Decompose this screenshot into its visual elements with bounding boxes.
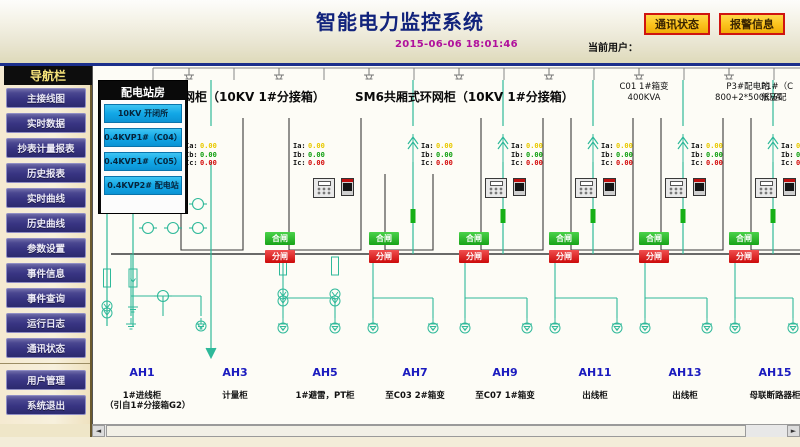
sidebar-item-system-exit[interactable]: 系统退出 <box>6 395 86 415</box>
application-window: 智能电力监控系统 2015-06-06 18:01:46 当前用户： 通讯状态 … <box>0 0 800 447</box>
bay-label-ah11: AH11 出线柜 <box>558 366 632 401</box>
close-breaker-button[interactable]: 合闸 <box>549 232 579 245</box>
bay-label-ah9: AH9 至C07 1#箱变 <box>468 366 542 401</box>
breaker-control-5: 合闸 分闸 <box>639 232 669 263</box>
sidebar-item-realtime-curve[interactable]: 实时曲线 <box>6 188 86 208</box>
measurement-block-6: Ia:0.00 Ib:0.00 Ic:0.00 <box>691 142 723 168</box>
measurement-block-5: Ia:0.00 Ib:0.00 Ic:0.00 <box>601 142 633 168</box>
close-breaker-button[interactable]: 合闸 <box>265 232 295 245</box>
horizontal-scrollbar[interactable]: ◄ ► <box>92 424 800 437</box>
sidebar-item-comm-status[interactable]: 通讯状态 <box>6 338 86 358</box>
footer-strip <box>0 437 800 447</box>
sidebar-item-run-log[interactable]: 运行日志 <box>6 313 86 333</box>
breaker-control-1: 合闸 分闸 <box>265 232 295 263</box>
sidebar-item-realtime-data[interactable]: 实时数据 <box>6 113 86 133</box>
protection-relay-icon[interactable] <box>755 178 777 198</box>
popup-item-04kv-p2-station[interactable]: 0.4KVP2# 配电站 <box>104 176 182 195</box>
energy-meter-icon[interactable] <box>513 178 526 196</box>
breaker-control-3: 合闸 分闸 <box>459 232 489 263</box>
protection-relay-icon[interactable] <box>485 178 507 198</box>
sidebar-item-event-info[interactable]: 事件信息 <box>6 263 86 283</box>
app-header: 智能电力监控系统 2015-06-06 18:01:46 当前用户： 通讯状态 … <box>0 0 800 66</box>
bay-label-ah15: AH15 母联断路器柜 <box>738 366 800 401</box>
popup-item-10kv-switch-station[interactable]: 10KV 开闭所 <box>104 104 182 123</box>
sidebar-item-parameters[interactable]: 参数设置 <box>6 238 86 258</box>
system-timestamp: 2015-06-06 18:01:46 <box>395 39 518 50</box>
sidebar-item-history-report[interactable]: 历史报表 <box>6 163 86 183</box>
measurement-block-3: Ia:0.00 Ib:0.00 Ic:0.00 <box>421 142 453 168</box>
transformer-note-c01: C01 1#箱变 400KVA <box>599 82 689 104</box>
sidebar-divider <box>0 363 90 365</box>
open-breaker-button[interactable]: 分闸 <box>549 250 579 263</box>
sidebar-item-main-diagram[interactable]: 主接线图 <box>6 88 86 108</box>
sidebar-nav-list: 主接线图 实时数据 抄表计量报表 历史报表 实时曲线 历史曲线 参数设置 事件信… <box>6 88 86 420</box>
substation-selector-popup: 配电站房 10KV 开闭所 0.4KVP1#（C04） 0.4KVP1#（C05… <box>98 80 188 214</box>
energy-meter-icon[interactable] <box>693 178 706 196</box>
sidebar-item-history-curve[interactable]: 历史曲线 <box>6 213 86 233</box>
energy-meter-icon[interactable] <box>341 178 354 196</box>
close-breaker-button[interactable]: 合闸 <box>369 232 399 245</box>
open-breaker-button[interactable]: 分闸 <box>265 250 295 263</box>
bay-label-ah7: AH7 至C03 2#箱变 <box>378 366 452 401</box>
open-breaker-button[interactable]: 分闸 <box>459 250 489 263</box>
protection-relay-icon[interactable] <box>313 178 335 198</box>
measurement-block-7: Ia:0.00 Ib:0.00 Ic:0.00 <box>781 142 800 168</box>
bay-label-ah13: AH13 出线柜 <box>648 366 722 401</box>
transformer-note-p1: P1#（C 低压配 <box>761 82 800 104</box>
popup-body: 10KV 开闭所 0.4KVP1#（C04） 0.4KVP1#（C05） 0.4… <box>101 100 185 213</box>
sidebar-item-user-admin[interactable]: 用户管理 <box>6 370 86 390</box>
main-diagram-panel: 环网柜（10KV 1#分接箱） SM6共厢式环网柜（10KV 1#分接箱） C0… <box>92 66 800 447</box>
scroll-left-arrow-icon[interactable]: ◄ <box>92 425 105 437</box>
open-breaker-button[interactable]: 分闸 <box>369 250 399 263</box>
protection-relay-icon[interactable] <box>665 178 687 198</box>
protection-relay-icon[interactable] <box>575 178 597 198</box>
section-title-1: 环网柜（10KV 1#分接箱） <box>171 88 325 105</box>
popup-title: 配电站房 <box>101 83 185 100</box>
measurement-block-1: Ia:0.00 Ib:0.00 Ic:0.00 <box>185 142 217 168</box>
current-user-label: 当前用户： <box>588 39 638 54</box>
open-breaker-button[interactable]: 分闸 <box>729 250 759 263</box>
energy-meter-icon[interactable] <box>603 178 616 196</box>
popup-item-04kv-p1-c04[interactable]: 0.4KVP1#（C04） <box>104 128 182 147</box>
single-line-diagram: 环网柜（10KV 1#分接箱） SM6共厢式环网柜（10KV 1#分接箱） C0… <box>93 66 800 424</box>
popup-item-04kv-p1-c05[interactable]: 0.4KVP1#（C05） <box>104 152 182 171</box>
breaker-control-4: 合闸 分闸 <box>549 232 579 263</box>
alarm-info-button[interactable]: 报警信息 <box>719 13 785 35</box>
navigation-sidebar: 导航栏 主接线图 实时数据 抄表计量报表 历史报表 实时曲线 历史曲线 参数设置… <box>0 66 92 447</box>
energy-meter-icon[interactable] <box>783 178 796 196</box>
sidebar-title: 导航栏 <box>4 66 92 85</box>
scroll-right-arrow-icon[interactable]: ► <box>787 425 800 437</box>
section-title-2: SM6共厢式环网柜（10KV 1#分接箱） <box>355 88 574 105</box>
sidebar-item-meter-report[interactable]: 抄表计量报表 <box>6 138 86 158</box>
close-breaker-button[interactable]: 合闸 <box>639 232 669 245</box>
close-breaker-button[interactable]: 合闸 <box>729 232 759 245</box>
scrollbar-thumb[interactable] <box>106 425 746 437</box>
measurement-block-4: Ia:0.00 Ib:0.00 Ic:0.00 <box>511 142 543 168</box>
bay-label-ah5: AH5 1#避雷，PT柜 <box>288 366 362 401</box>
bay-label-ah1: AH1 1#进线柜 （引自1#分接箱G2） <box>105 366 179 411</box>
close-breaker-button[interactable]: 合闸 <box>459 232 489 245</box>
measurement-block-2: Ia:0.00 Ib:0.00 Ic:0.00 <box>293 142 325 168</box>
sidebar-item-event-query[interactable]: 事件查询 <box>6 288 86 308</box>
breaker-control-6: 合闸 分闸 <box>729 232 759 263</box>
open-breaker-button[interactable]: 分闸 <box>639 250 669 263</box>
breaker-control-2: 合闸 分闸 <box>369 232 399 263</box>
bay-label-ah3: AH3 计量柜 <box>198 366 272 401</box>
comm-status-button[interactable]: 通讯状态 <box>644 13 710 35</box>
